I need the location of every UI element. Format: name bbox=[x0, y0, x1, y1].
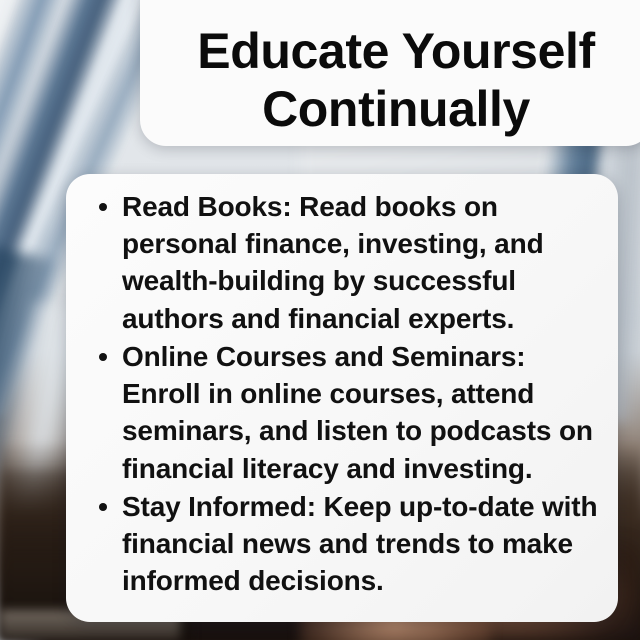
tips-list: Read Books: Read books on personal finan… bbox=[86, 188, 600, 600]
bullet-dot-icon bbox=[99, 203, 107, 211]
list-item: Read Books: Read books on personal finan… bbox=[86, 188, 600, 337]
body-card: Read Books: Read books on personal finan… bbox=[66, 174, 618, 622]
list-item-text: Online Courses and Seminars: Enroll in o… bbox=[122, 341, 593, 484]
list-item: Stay Informed: Keep up-to-date with fina… bbox=[86, 488, 600, 600]
poster-canvas: Educate Yourself Continually Read Books:… bbox=[0, 0, 640, 640]
list-item-text: Read Books: Read books on personal finan… bbox=[122, 191, 544, 334]
title-card: Educate Yourself Continually bbox=[140, 0, 640, 146]
list-item: Online Courses and Seminars: Enroll in o… bbox=[86, 338, 600, 487]
bullet-dot-icon bbox=[99, 503, 107, 511]
page-title: Educate Yourself Continually bbox=[171, 22, 621, 138]
list-item-text: Stay Informed: Keep up-to-date with fina… bbox=[122, 491, 597, 596]
bullet-dot-icon bbox=[99, 353, 107, 361]
